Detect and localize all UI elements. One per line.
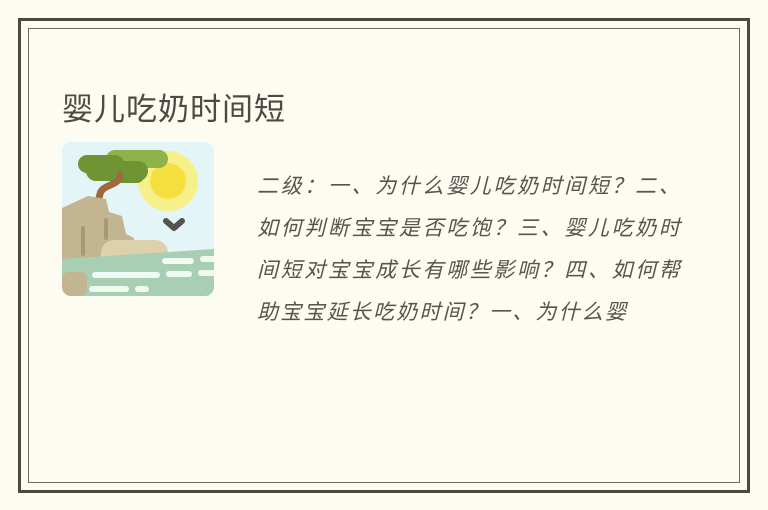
document-card-inner-frame: 婴儿吃奶时间短 — [28, 28, 740, 483]
article-body-text: 二级：一、为什么婴儿吃奶时间短？二、如何判断宝宝是否吃饱？三、婴儿吃奶时间短对宝… — [257, 165, 682, 333]
cliff-crack-1 — [81, 226, 85, 256]
water-bank-rock — [62, 272, 87, 296]
landscape-illustration — [62, 142, 214, 296]
wave-dash — [135, 286, 149, 292]
wave-dash — [162, 258, 194, 264]
document-card: 婴儿吃奶时间短 — [18, 18, 750, 493]
wave-dash — [92, 272, 160, 278]
wave-dash — [200, 256, 214, 262]
landscape-illustration-svg — [62, 142, 214, 296]
page-title: 婴儿吃奶时间短 — [62, 90, 286, 130]
wave-dash — [198, 270, 214, 276]
wave-dash — [166, 271, 192, 277]
cliff-crack-2 — [104, 218, 108, 240]
sun-core-icon — [150, 163, 186, 199]
wave-dash — [89, 286, 129, 292]
